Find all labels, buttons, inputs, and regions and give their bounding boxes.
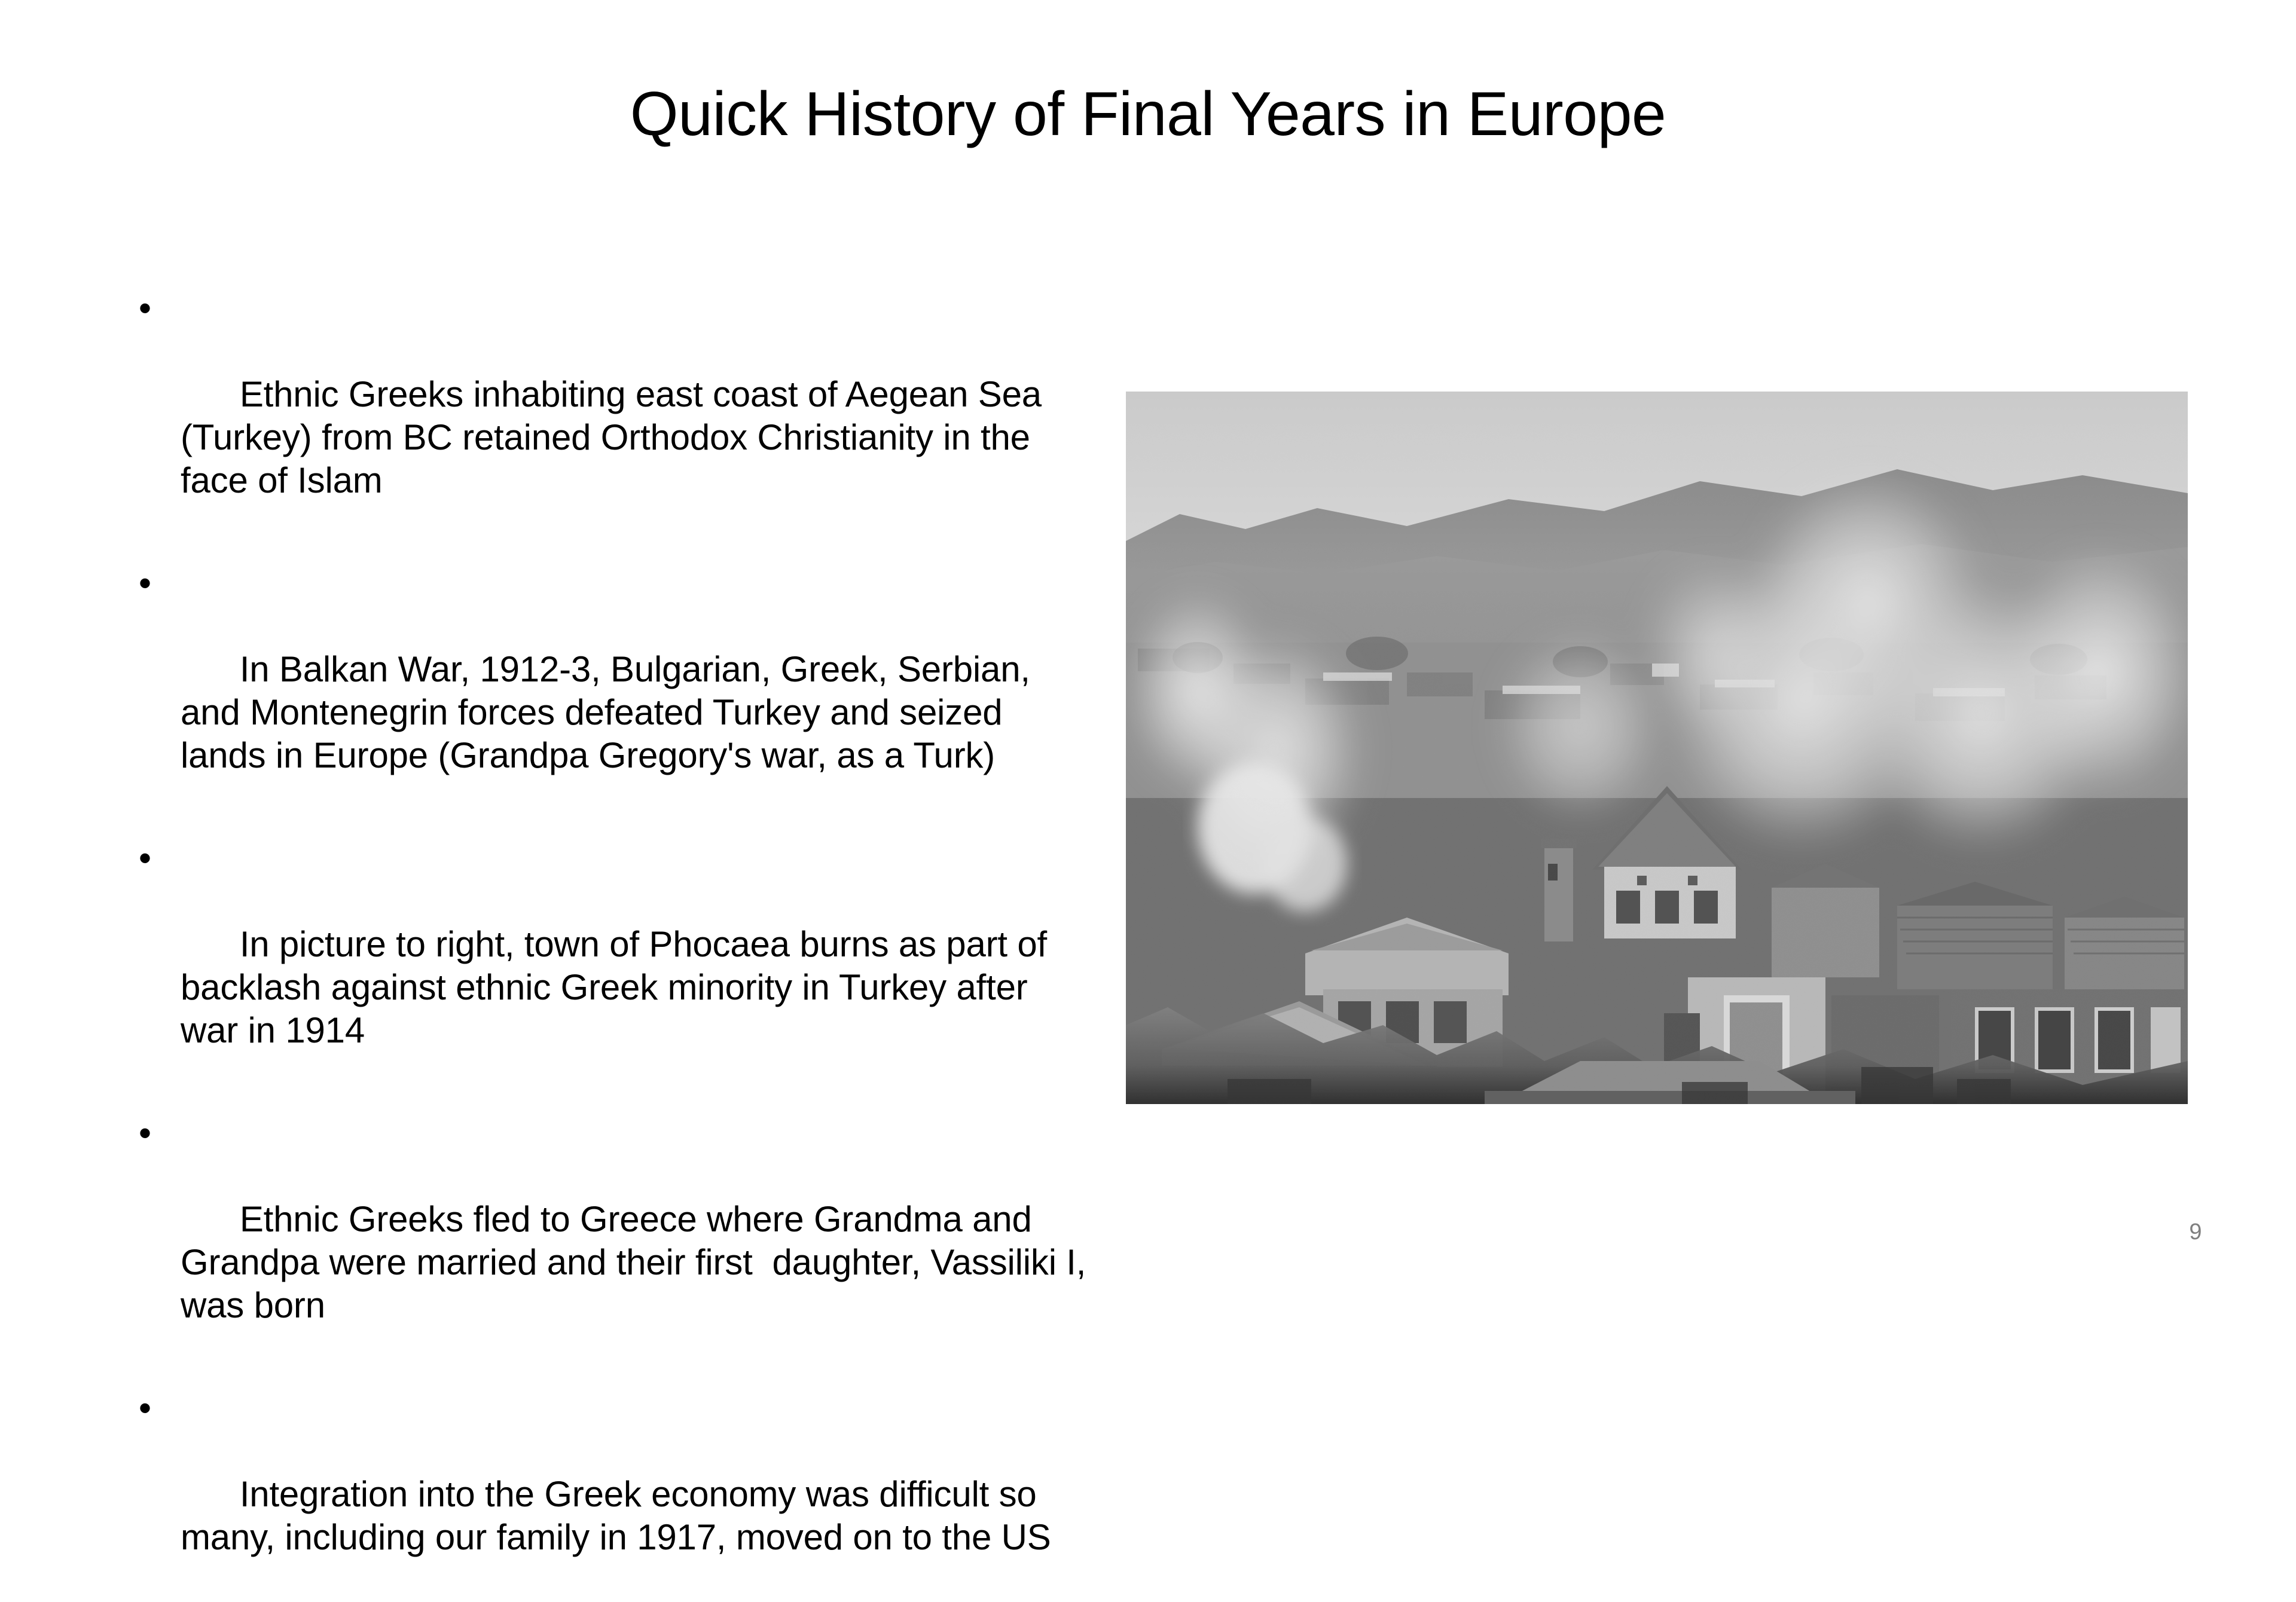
list-item: • Ethnic Greeks fled to Greece where Gra… xyxy=(126,1112,1094,1370)
list-item: • Ethnic Greeks inhabiting east coast of… xyxy=(126,287,1094,545)
bullet-text: In picture to right, town of Phocaea bur… xyxy=(181,924,1057,1050)
bullet-list: • Ethnic Greeks inhabiting east coast of… xyxy=(126,287,1094,1602)
bullet-point-icon: • xyxy=(139,837,163,880)
bullet-point-icon: • xyxy=(139,287,163,330)
list-item: • In Balkan War, 1912-3, Bulgarian, Gree… xyxy=(126,562,1094,820)
bullet-text: In Balkan War, 1912-3, Bulgarian, Greek,… xyxy=(181,649,1040,775)
burning-town-photograph xyxy=(1126,392,2188,1104)
bullet-point-icon: • xyxy=(139,562,163,605)
bullet-point-icon: • xyxy=(139,1387,163,1430)
bullet-text: Ethnic Greeks fled to Greece where Grand… xyxy=(181,1199,1096,1325)
photograph-artwork xyxy=(1126,392,2188,1104)
slide-number: 9 xyxy=(2172,1218,2219,1246)
list-item: • Integration into the Greek economy was… xyxy=(126,1387,1094,1602)
list-item: • In picture to right, town of Phocaea b… xyxy=(126,837,1094,1095)
bullet-point-icon: • xyxy=(139,1112,163,1155)
bullet-text: Integration into the Greek economy was d… xyxy=(181,1474,1051,1557)
bullet-text: Ethnic Greeks inhabiting east coast of A… xyxy=(181,374,1051,500)
page-title: Quick History of Final Years in Europe xyxy=(179,78,2117,151)
slide-canvas: Quick History of Final Years in Europe •… xyxy=(0,0,2296,1291)
